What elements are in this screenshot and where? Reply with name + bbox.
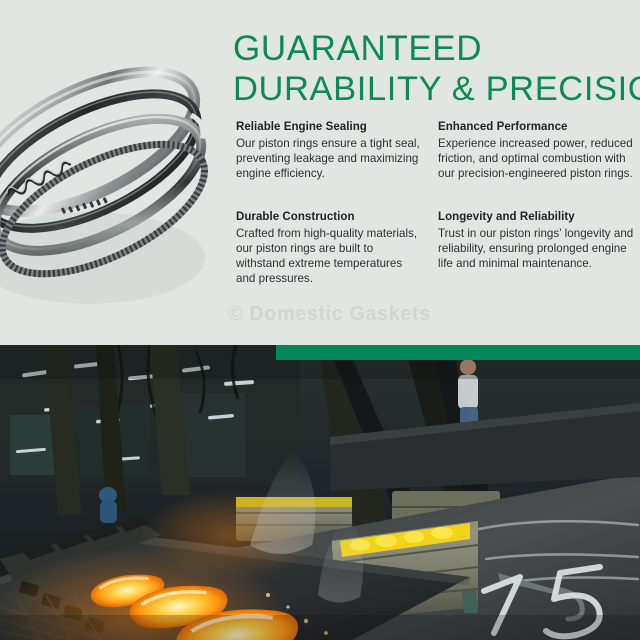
feature-body: Crafted from high-quality ma­terials, ou… (236, 226, 420, 287)
feature-row-2: Durable Construction Crafted from high-q… (236, 210, 640, 287)
promo-poster: © Domestic Gaskets GUARANTEED DURABILITY… (0, 0, 640, 640)
top-content-panel: © Domestic Gaskets GUARANTEED DURABILITY… (0, 0, 640, 345)
feature-row-1: Reliable Engine Sealing Our piston rings… (236, 120, 640, 182)
page-title: GUARANTEED DURABILITY & PRECISION (233, 28, 638, 110)
page-title-line-1: GUARANTEED (233, 28, 638, 69)
feature-title: Durable Construction (236, 210, 420, 225)
feature-enhanced-performance: Enhanced Performance Experience increase… (438, 120, 640, 182)
feature-durable-construction: Durable Construction Crafted from high-q… (236, 210, 438, 287)
feature-body: Our piston rings ensure a tight seal, pr… (236, 136, 420, 182)
green-accent-bar (276, 345, 640, 360)
watermark-text: © Domestic Gaskets (228, 303, 438, 329)
page-title-line-2: DURABILITY & PRECISION (233, 69, 638, 110)
feature-title: Enhanced Performance (438, 120, 636, 135)
feature-title: Longevity and Reliability (438, 210, 636, 225)
feature-body: Experience increased power, reduced fric… (438, 136, 636, 182)
feature-longevity-and-reliability: Longevity and Reliability Trust in our p… (438, 210, 640, 287)
feature-body: Trust in our piston rings' lon­gevity an… (438, 226, 636, 272)
factory-photo (0, 345, 640, 640)
piston-rings-product-image (0, 8, 222, 334)
feature-reliable-engine-sealing: Reliable Engine Sealing Our piston rings… (236, 120, 438, 182)
feature-grid: Reliable Engine Sealing Our piston rings… (236, 120, 640, 286)
feature-title: Reliable Engine Sealing (236, 120, 420, 135)
